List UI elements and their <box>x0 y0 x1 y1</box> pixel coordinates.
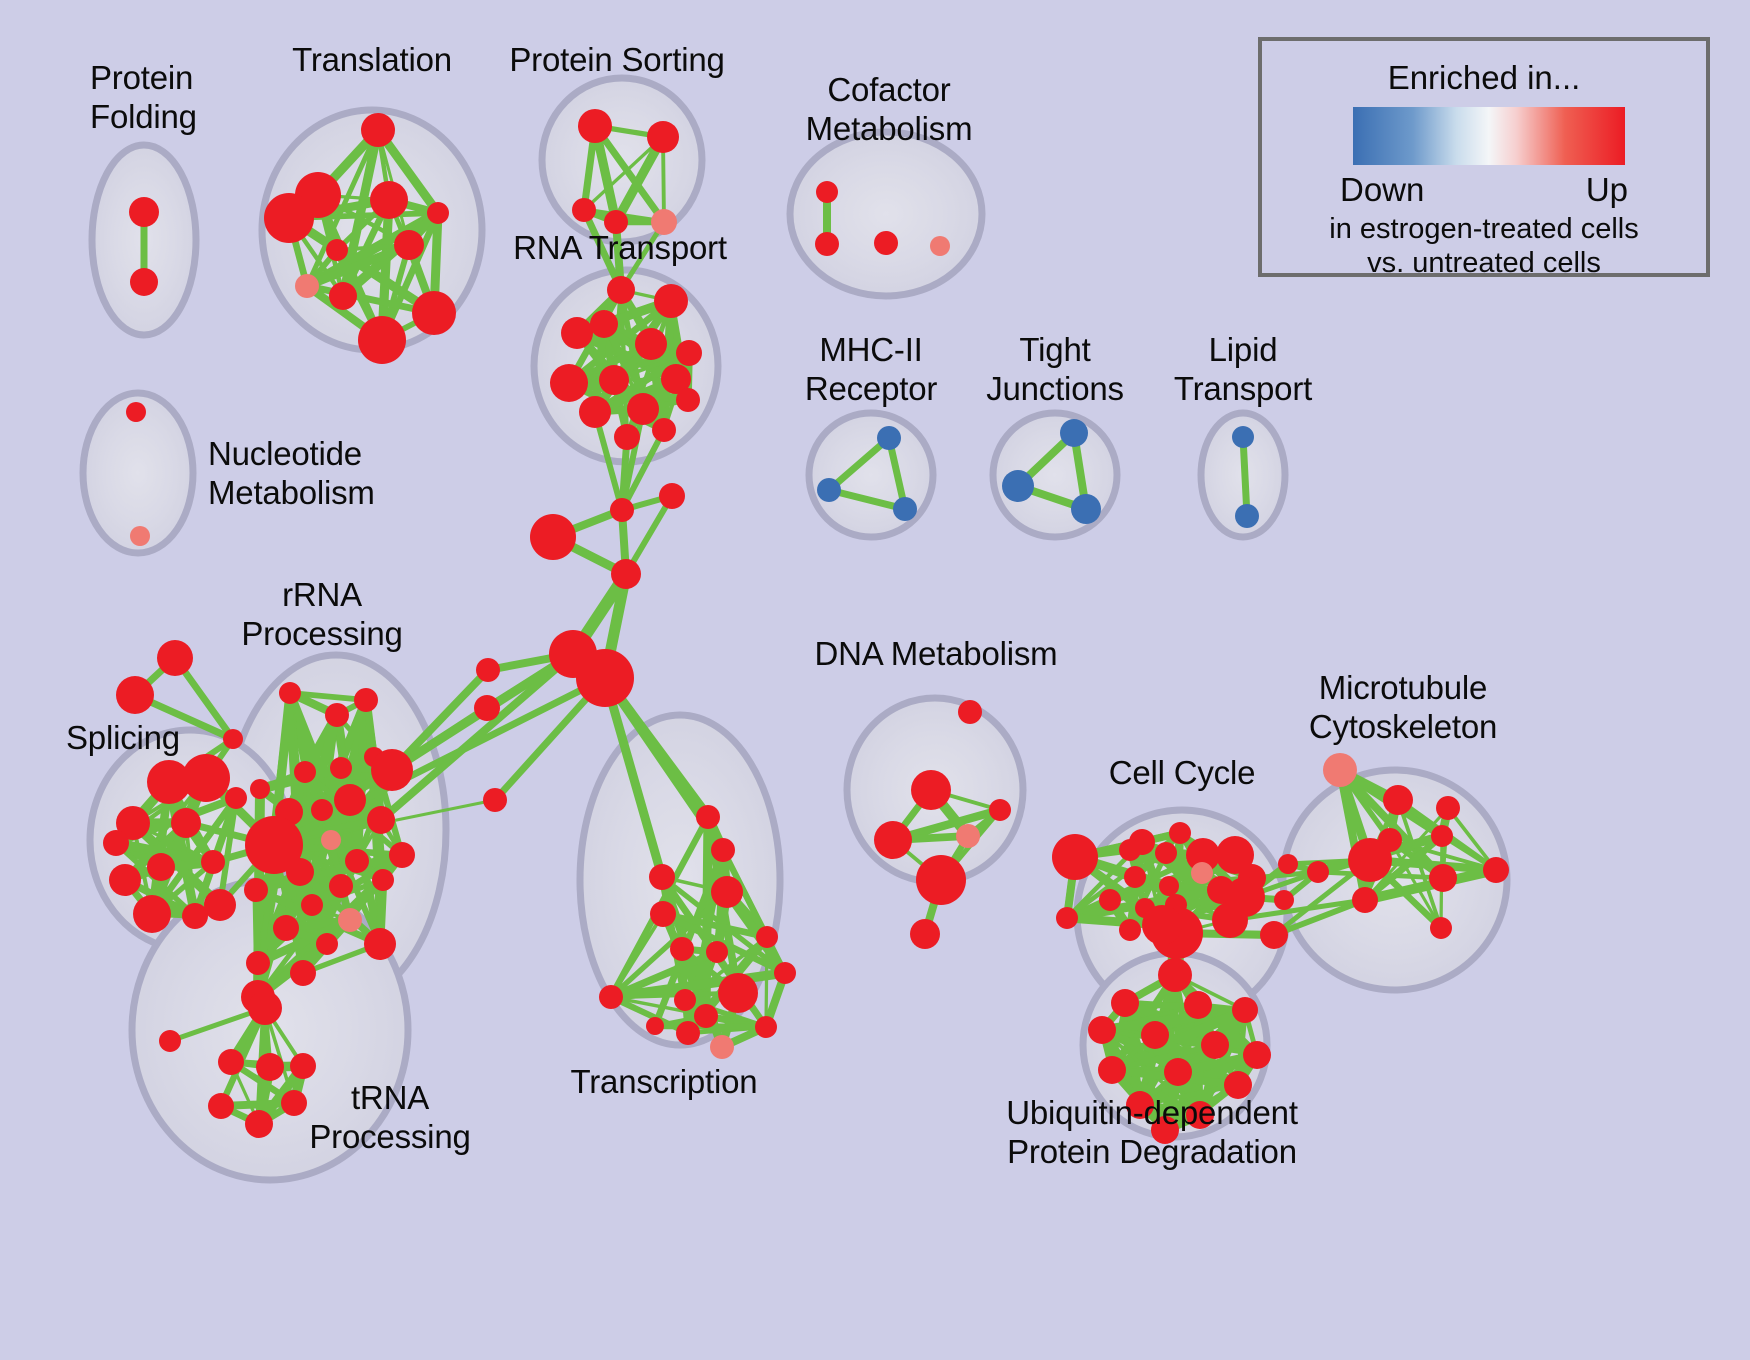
network-node <box>1436 796 1460 820</box>
network-node <box>652 418 676 442</box>
network-node <box>706 941 728 963</box>
network-node <box>1159 876 1179 896</box>
network-node <box>256 1053 284 1081</box>
network-node <box>647 121 679 153</box>
network-node <box>614 424 640 450</box>
network-node <box>1169 822 1191 844</box>
network-node <box>412 291 456 335</box>
network-node <box>1429 864 1457 892</box>
network-node <box>116 676 154 714</box>
network-node <box>610 498 634 522</box>
network-node <box>133 895 171 933</box>
network-node <box>1071 494 1101 524</box>
network-node <box>670 937 694 961</box>
network-node <box>910 919 940 949</box>
network-node <box>930 236 950 256</box>
cluster-label-translation: Translation <box>292 40 452 79</box>
cluster-label-cofactor-metabolism: Cofactor Metabolism <box>806 70 973 148</box>
network-node <box>572 198 596 222</box>
network-node <box>774 962 796 984</box>
cluster-label-protein-folding: Protein Folding <box>90 58 197 136</box>
network-node <box>364 928 396 960</box>
network-node <box>1352 887 1378 913</box>
network-node <box>1155 842 1177 864</box>
network-node <box>301 894 323 916</box>
network-node <box>711 838 735 862</box>
network-node <box>659 483 685 509</box>
network-node <box>325 703 349 727</box>
network-node <box>248 991 282 1025</box>
network-node <box>338 908 362 932</box>
network-node <box>294 761 316 783</box>
network-node <box>1119 839 1141 861</box>
cluster-label-tight-junctions: Tight Junctions <box>986 330 1124 408</box>
network-node <box>817 478 841 502</box>
network-node <box>911 770 951 810</box>
network-node <box>816 181 838 203</box>
network-node <box>1383 785 1413 815</box>
network-node <box>1124 866 1146 888</box>
network-node <box>1184 991 1212 1019</box>
network-node <box>635 328 667 360</box>
network-node <box>345 849 369 873</box>
network-node <box>290 1053 316 1079</box>
network-node <box>676 340 702 366</box>
network-node <box>1142 905 1182 945</box>
cluster-label-dna-metabolism: DNA Metabolism <box>815 634 1058 673</box>
network-node <box>279 682 301 704</box>
network-node <box>389 842 415 868</box>
network-node <box>329 282 357 310</box>
network-node <box>1099 889 1121 911</box>
network-node <box>281 1090 307 1116</box>
cluster-label-nucleotide-metabolism: Nucleotide Metabolism <box>208 434 375 512</box>
network-node <box>1278 854 1298 874</box>
cluster-label-protein-sorting: Protein Sorting <box>509 40 724 79</box>
network-node <box>201 850 225 874</box>
network-node <box>244 878 268 902</box>
network-node <box>607 276 635 304</box>
network-node <box>893 497 917 521</box>
network-node <box>550 364 588 402</box>
network-node <box>1191 862 1213 884</box>
enrichment-network-figure: Protein FoldingTranslationProtein Sortin… <box>0 0 1750 1360</box>
network-node <box>1158 958 1192 992</box>
network-node <box>370 181 408 219</box>
network-node <box>916 855 966 905</box>
network-node <box>321 830 341 850</box>
network-node <box>611 559 641 589</box>
network-node <box>1119 919 1141 941</box>
network-node <box>530 514 576 560</box>
network-node <box>989 799 1011 821</box>
network-node <box>223 729 243 749</box>
network-node <box>755 1016 777 1038</box>
network-node <box>129 197 159 227</box>
network-node <box>561 317 593 349</box>
network-node <box>579 396 611 428</box>
network-node <box>286 858 314 886</box>
cluster-label-rrna-processing: rRNA Processing <box>241 575 402 653</box>
network-node <box>361 113 395 147</box>
network-node <box>264 193 314 243</box>
network-node <box>710 1035 734 1059</box>
network-node <box>1232 997 1258 1023</box>
network-node <box>250 779 270 799</box>
network-node <box>483 788 507 812</box>
network-node <box>718 973 758 1013</box>
legend-down-label: Down <box>1340 171 1424 209</box>
network-node <box>367 806 395 834</box>
network-node <box>578 109 612 143</box>
network-node <box>1201 1031 1229 1059</box>
network-node <box>1212 902 1248 938</box>
network-node <box>1164 1058 1192 1086</box>
cluster-label-lipid-transport: Lipid Transport <box>1174 330 1312 408</box>
network-node <box>109 864 141 896</box>
network-node <box>1111 989 1139 1017</box>
network-node <box>1052 834 1098 880</box>
network-node <box>334 784 366 816</box>
network-node <box>650 901 676 927</box>
network-node <box>182 754 230 802</box>
network-node <box>711 876 743 908</box>
network-node <box>1274 890 1294 910</box>
cluster-label-transcription: Transcription <box>571 1062 758 1101</box>
network-node <box>1431 825 1453 847</box>
network-node <box>208 1093 234 1119</box>
network-node <box>646 1017 664 1035</box>
cluster-label-mhc-ii-receptor: MHC-II Receptor <box>805 330 937 408</box>
network-node <box>394 230 424 260</box>
network-node <box>171 808 201 838</box>
network-node <box>1056 907 1078 929</box>
legend-box: Enriched in... Down Up in estrogen-treat… <box>1258 37 1710 277</box>
network-node <box>225 787 247 809</box>
network-node <box>1243 1041 1271 1069</box>
network-node <box>476 658 500 682</box>
network-node <box>246 951 270 975</box>
network-node <box>159 1030 181 1052</box>
network-node <box>204 889 236 921</box>
network-node <box>427 202 449 224</box>
network-node <box>273 915 299 941</box>
legend-subtitle-line1: in estrogen-treated cells <box>1262 213 1706 246</box>
network-node <box>1060 419 1088 447</box>
network-node <box>358 316 406 364</box>
network-node <box>311 799 333 821</box>
network-node <box>1260 921 1288 949</box>
cluster-label-ubiquitin-degradation: Ubiquitin-dependent Protein Degradation <box>1006 1093 1298 1171</box>
network-node <box>694 1004 718 1028</box>
cluster-ellipse <box>790 132 982 296</box>
network-node <box>1141 1021 1169 1049</box>
network-node <box>1088 1016 1116 1044</box>
network-node <box>958 700 982 724</box>
cluster-label-trna-processing: tRNA Processing <box>309 1078 470 1156</box>
network-node <box>1098 1056 1126 1084</box>
network-node <box>1307 861 1329 883</box>
network-node <box>218 1049 244 1075</box>
cluster-label-splicing: Splicing <box>66 718 180 757</box>
network-node <box>649 864 675 890</box>
network-node <box>1348 838 1392 882</box>
network-node <box>676 388 700 412</box>
network-node <box>182 903 208 929</box>
network-node <box>474 695 500 721</box>
network-node <box>290 960 316 986</box>
network-node <box>245 1110 273 1138</box>
network-node <box>1232 426 1254 448</box>
network-node <box>576 649 634 707</box>
cluster-label-rna-transport: RNA Transport <box>513 228 727 267</box>
network-node <box>676 1021 700 1045</box>
network-node <box>599 985 623 1009</box>
cluster-ellipse <box>809 413 933 537</box>
network-node <box>874 231 898 255</box>
network-node <box>590 310 618 338</box>
network-node <box>330 757 352 779</box>
network-node <box>126 402 146 422</box>
network-node <box>1430 917 1452 939</box>
network-node <box>874 821 912 859</box>
network-node <box>1483 857 1509 883</box>
network-node <box>756 926 778 948</box>
network-node <box>295 274 319 298</box>
network-node <box>877 426 901 450</box>
cluster-label-cell-cycle: Cell Cycle <box>1109 753 1256 792</box>
network-node <box>372 869 394 891</box>
network-node <box>627 393 659 425</box>
network-node <box>674 989 696 1011</box>
network-node <box>599 365 629 395</box>
network-node <box>316 933 338 955</box>
network-node <box>654 284 688 318</box>
network-node <box>329 874 353 898</box>
legend-up-label: Up <box>1586 171 1628 209</box>
network-node <box>1235 504 1259 528</box>
network-node <box>1323 753 1357 787</box>
network-node <box>157 640 193 676</box>
cluster-label-microtubule-cytoskeleton: Microtubule Cytoskeleton <box>1309 668 1497 746</box>
legend-subtitle-line2: vs. untreated cells <box>1262 247 1706 280</box>
legend-title: Enriched in... <box>1262 59 1706 97</box>
network-node <box>371 749 413 791</box>
legend-color-bar <box>1353 107 1625 165</box>
network-node <box>815 232 839 256</box>
network-node <box>103 830 129 856</box>
network-node <box>1002 470 1034 502</box>
network-node <box>696 805 720 829</box>
network-node <box>147 853 175 881</box>
network-node <box>354 688 378 712</box>
network-node <box>956 824 980 848</box>
network-node <box>326 239 348 261</box>
network-node <box>130 268 158 296</box>
network-node <box>130 526 150 546</box>
